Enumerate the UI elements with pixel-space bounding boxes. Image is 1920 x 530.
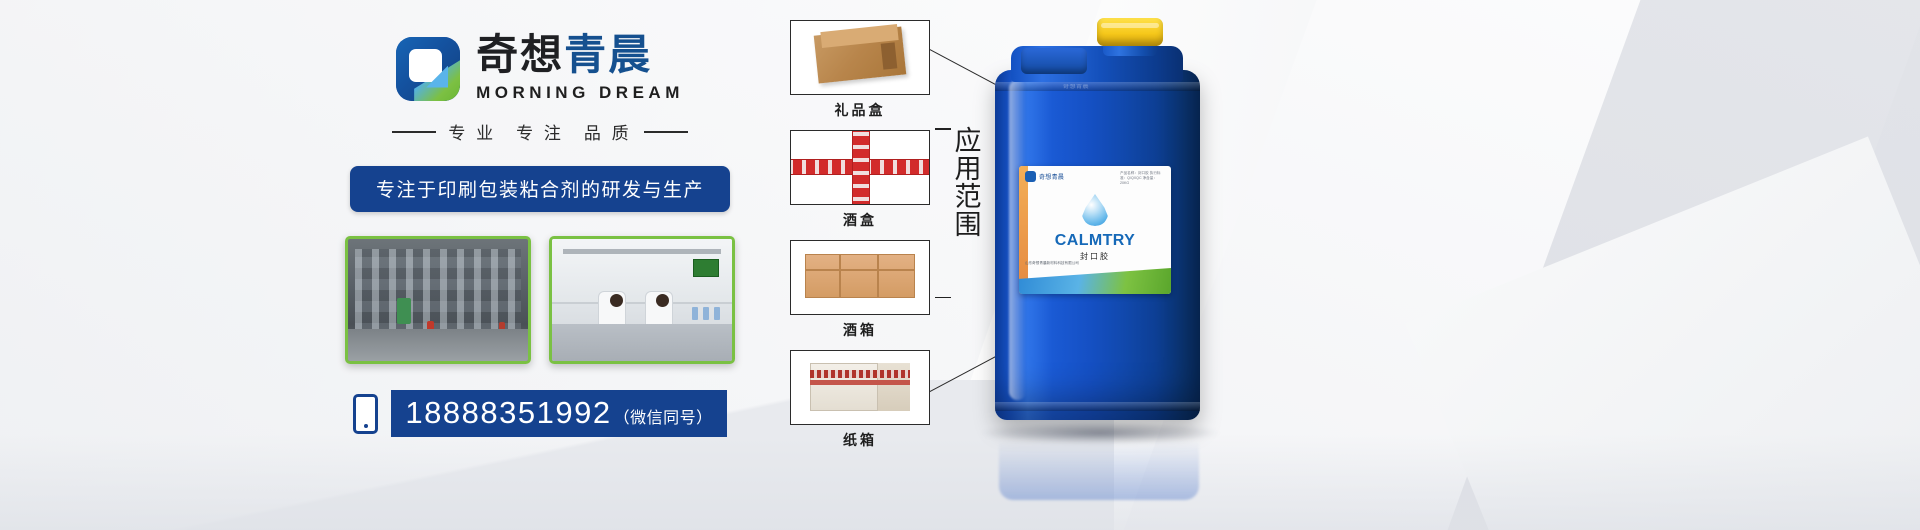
application-label: 礼品盒: [835, 100, 886, 120]
phone-number: 18888351992: [405, 395, 611, 431]
water-drop-icon: [1082, 194, 1108, 226]
phone-plate[interactable]: 18888351992 （微信同号）: [391, 390, 726, 437]
product-jerrycan[interactable]: 奇想青晨 封口胶 奇想青晨 产品名称：封口胶 执行标准：Q/QXQC 净含量：2…: [985, 18, 1215, 488]
application-label: 酒箱: [843, 320, 877, 340]
application-card-wine-box[interactable]: 酒盒: [790, 130, 930, 230]
application-card-wine-carton[interactable]: 酒箱: [790, 240, 930, 340]
tagline-banner: 专注于印刷包装粘合剂的研发与生产: [350, 166, 730, 212]
product-label: 封口胶 奇想青晨 产品名称：封口胶 执行标准：Q/QXQC 净含量：20KG C…: [1019, 166, 1171, 294]
jug-reflection: [999, 430, 1199, 500]
promo-banner: 奇想青晨 MORNING DREAM 专 业 专 注 品 质 专注于印刷包装粘合…: [0, 0, 1920, 530]
brand-name-cn-part2: 青晨: [564, 30, 652, 79]
brand-name-cn-part1: 奇想: [476, 30, 564, 79]
mobile-phone-icon: [353, 394, 378, 434]
label-side-text: 封口胶: [1019, 217, 1020, 230]
label-brand-name: CALMTRY: [1019, 232, 1171, 250]
slogan-word-1: 专 业: [448, 119, 496, 144]
slogan-rule-left: [392, 131, 436, 133]
application-card-list: 礼品盒 酒盒 酒箱 纸箱: [790, 20, 930, 450]
brand-column: 奇想青晨 MORNING DREAM 专 业 专 注 品 质 专注于印刷包装粘合…: [330, 28, 750, 448]
jug-cap: [1097, 18, 1163, 46]
slogan-word-2: 专 注: [516, 119, 564, 144]
label-meta-text: 产品名称：封口胶 执行标准：Q/QXQC 净含量：20KG: [1120, 171, 1166, 186]
paper-carton-illustration: [790, 350, 930, 425]
brand-name-cn: 奇想青晨: [476, 34, 684, 76]
application-card-paper-carton[interactable]: 纸箱: [790, 350, 930, 450]
label-brand-row: 奇想青晨: [1025, 171, 1064, 182]
logo-lockup: 奇想青晨 MORNING DREAM: [396, 34, 684, 103]
application-label: 酒盒: [843, 210, 877, 230]
brand-name-en: MORNING DREAM: [476, 83, 684, 103]
jug-rib-bottom: [995, 402, 1200, 411]
slogan-rule-right: [644, 131, 688, 133]
application-label: 纸箱: [843, 430, 877, 450]
jug-embossed-text: 奇想青晨: [1063, 84, 1117, 96]
photo-factory-production-line: [345, 236, 531, 364]
wine-carton-illustration: [790, 240, 930, 315]
label-company-cn: 奇想青晨: [1039, 172, 1064, 181]
label-footer-band: [1019, 268, 1171, 294]
gift-box-illustration: [790, 20, 930, 95]
label-side-strip: 封口胶: [1019, 166, 1028, 294]
photo-gallery: [345, 236, 735, 364]
photo-laboratory-research: [549, 236, 735, 364]
slogan-word-3: 品 质: [584, 119, 632, 144]
morning-dream-q-logo-icon: [396, 37, 460, 101]
wine-box-illustration: [790, 130, 930, 205]
slogan-row: 专 业 专 注 品 质: [392, 119, 687, 144]
contact-phone-row[interactable]: 18888351992 （微信同号）: [353, 390, 726, 437]
jug-handle: 奇想青晨: [1021, 48, 1087, 74]
phone-note: （微信同号）: [614, 404, 713, 428]
application-card-gift-box[interactable]: 礼品盒: [790, 20, 930, 120]
label-logo-icon: [1025, 171, 1036, 182]
application-scope-title: 应用范围: [948, 126, 983, 238]
label-footnote: 山东奇想青晨新材料科技有限公司: [1025, 261, 1165, 266]
background-floor: [0, 434, 1920, 530]
